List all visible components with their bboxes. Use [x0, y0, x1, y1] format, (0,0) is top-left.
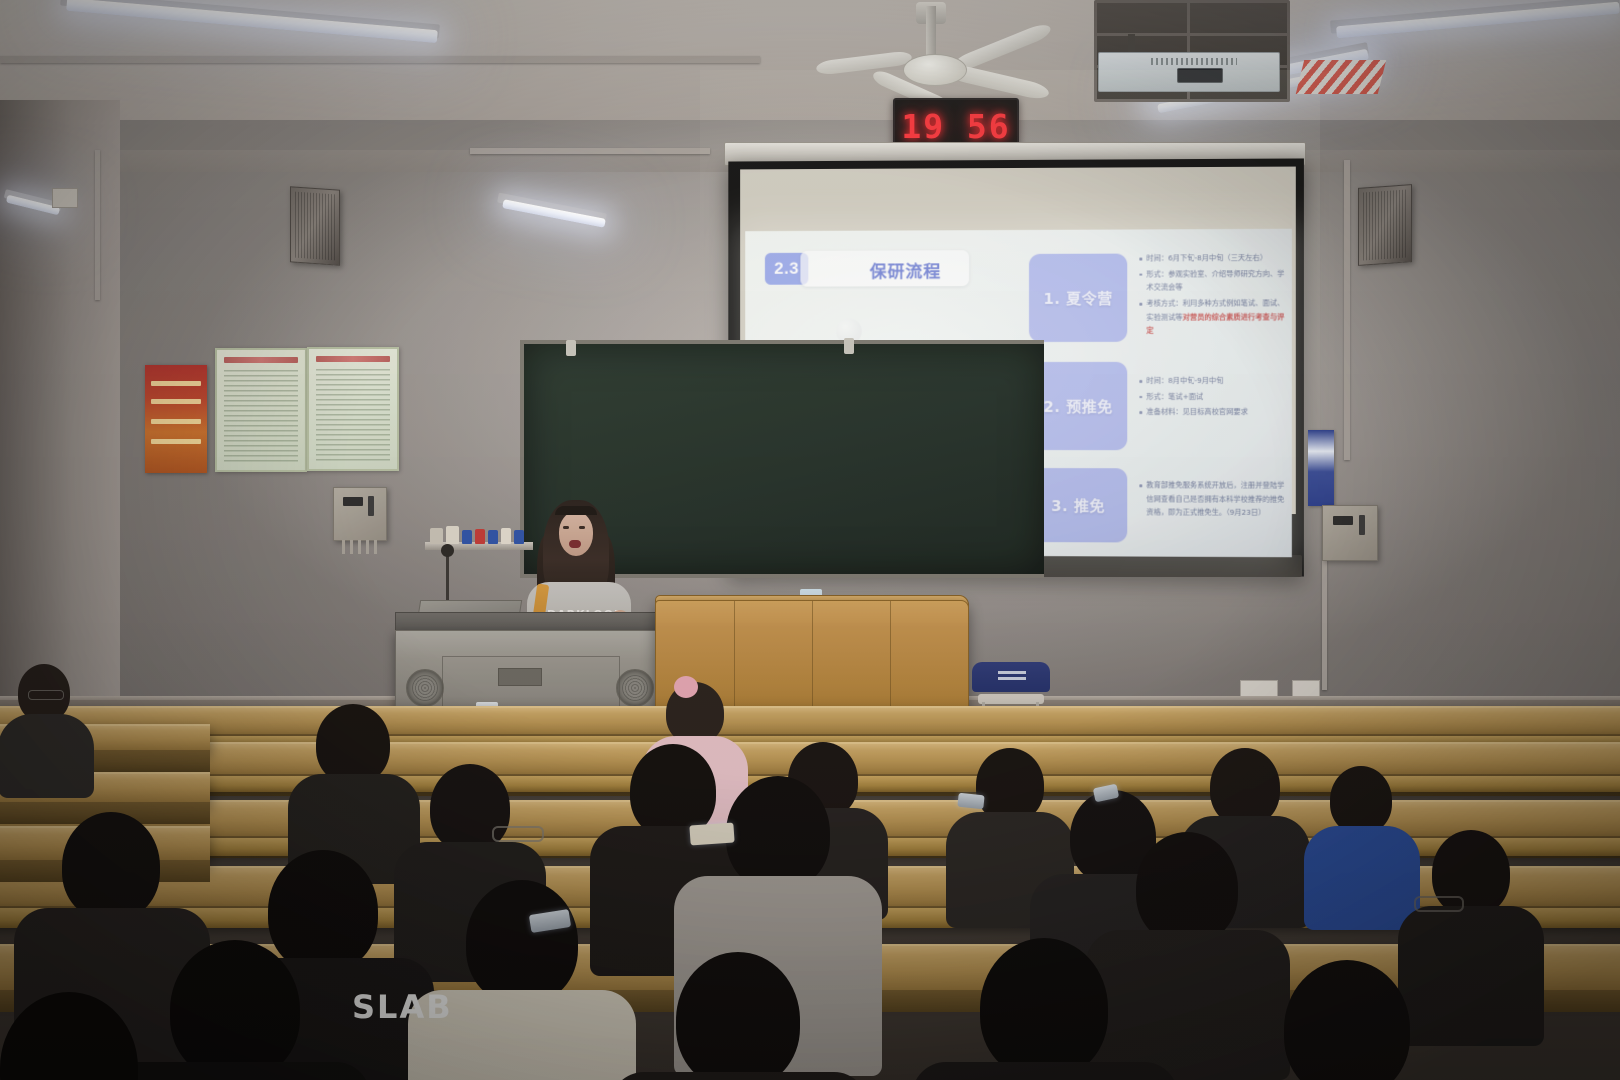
wall-conduit — [1344, 160, 1350, 460]
presenter-mouth — [569, 540, 581, 548]
audience-person-slab — [170, 940, 300, 1080]
audience-person — [316, 704, 390, 784]
electrical-panel-left — [333, 487, 387, 541]
audience-glasses — [492, 826, 544, 842]
presenter-eye — [563, 526, 569, 529]
poster-safety-notice — [1308, 430, 1334, 506]
lecture-hall-photo: 19 56 2.3 保研流程 — [0, 0, 1620, 1080]
presenter-headband — [555, 506, 597, 515]
audience-person — [1210, 748, 1280, 826]
audience-person — [1136, 832, 1238, 944]
presenter-eye — [579, 526, 585, 529]
board-clip — [566, 340, 576, 356]
microphone-head — [441, 544, 454, 557]
slide-bullet: 形式：参观实验室、介绍导师研究方向、学术交流会等 — [1139, 267, 1286, 295]
projector — [1098, 52, 1280, 92]
slide-bullets-3: 教育部推免服务系统开放后，注册并登陆学信网查看自己是否拥有本科学校推荐的推免资格… — [1139, 478, 1286, 522]
wall-switch[interactable] — [52, 188, 78, 208]
wall-speaker-left — [290, 186, 340, 265]
notebook-page — [689, 822, 734, 845]
slide-title: 保研流程 — [836, 257, 975, 282]
poster-regulations-right — [307, 347, 399, 471]
poster-core-values — [145, 365, 207, 473]
projector-vent — [1151, 58, 1237, 65]
audience-glasses — [1414, 896, 1464, 912]
clock-time: 19 56 — [901, 107, 1010, 146]
chalk-box — [446, 526, 459, 544]
poster-regulations-left — [215, 348, 307, 472]
audience-person — [980, 938, 1108, 1078]
projector-lens — [1177, 68, 1223, 83]
wall-conduit — [95, 150, 100, 300]
hair-scrunchie — [674, 676, 698, 698]
slide-bullet: 形式：笔试+面试 — [1139, 390, 1286, 404]
slide-bullet: 教育部推免服务系统开放后，注册并登陆学信网查看自己是否拥有本科学校推荐的推免资格… — [1139, 478, 1286, 520]
audience-person — [676, 952, 800, 1080]
fan-hub — [903, 54, 967, 86]
slide-bullets-1: 时间：6月下旬-8月中旬（三天左右） 形式：参观实验室、介绍导师研究方向、学术交… — [1139, 251, 1286, 340]
audience-person — [0, 992, 138, 1080]
audience-person — [466, 880, 578, 1004]
jacket-text: SLAB — [352, 988, 453, 1026]
hazard-stripe — [1296, 60, 1386, 94]
ceiling-conduit — [470, 148, 710, 154]
console-speaker — [616, 669, 654, 707]
electrical-panel-right — [1322, 505, 1378, 561]
audience-person — [726, 776, 830, 890]
slide-bullet: 时间：6月下旬-8月中旬（三天左右） — [1139, 251, 1286, 265]
slide-bullet: 时间：8月中旬-9月中旬 — [1139, 374, 1286, 388]
marker — [488, 530, 498, 544]
marker — [475, 529, 485, 544]
ceiling-conduit — [0, 56, 760, 63]
presenter-face — [559, 512, 593, 556]
chair-back — [972, 662, 1050, 692]
marker — [462, 530, 472, 544]
slide-bullet: 准备材料：见目标高校官网要求 — [1139, 405, 1286, 419]
console-speaker — [406, 669, 444, 707]
chalk-box — [430, 528, 443, 544]
marker — [501, 528, 511, 544]
audience-person — [1284, 960, 1410, 1080]
phone-screen[interactable] — [957, 793, 984, 810]
chair-seat — [978, 694, 1044, 704]
slide-step-box-1: 1. 夏令营 — [1029, 254, 1127, 342]
wall-speaker-right — [1358, 184, 1412, 266]
audience-glasses — [28, 690, 64, 700]
audience-person — [976, 748, 1044, 822]
fan-blade — [816, 50, 913, 76]
slide-bullet: 考核方式：利用多种方式例如笔试、面试、实验测试等对营员的综合素质进行考查与评定 — [1139, 296, 1286, 338]
fan-rod — [926, 6, 936, 58]
audience-person — [1330, 766, 1392, 834]
board-clip — [844, 338, 854, 354]
slide-bullets-2: 时间：8月中旬-9月中旬 形式：笔试+面试 准备材料：见目标高校官网要求 — [1139, 374, 1286, 421]
console-nameplate — [498, 668, 542, 686]
audience-person — [62, 812, 160, 920]
desk-row — [0, 706, 1620, 737]
